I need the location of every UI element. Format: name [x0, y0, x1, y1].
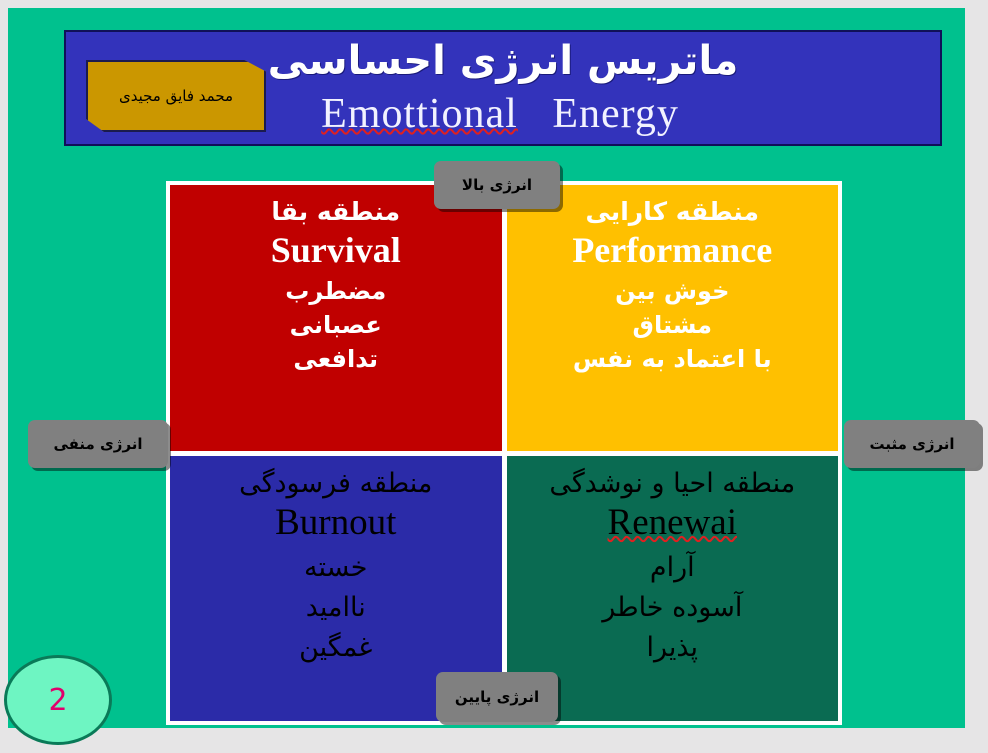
quadrant-renewal-item-3: پذیرا [646, 628, 698, 668]
author-badge: محمد فايق مجيدى [86, 60, 266, 132]
axis-label-high-energy: انرژی بالا [434, 161, 560, 209]
quadrant-survival-item-3: تدافعی [293, 342, 378, 376]
quadrant-burnout-item-3: غمگین [299, 628, 372, 668]
quadrant-burnout-item-2: ناامید [306, 588, 366, 628]
title-english-word-emottional: Emottional [321, 91, 518, 137]
quadrant-renewal-heading: منطقه احیا و نوشدگی [549, 468, 795, 500]
quadrant-renewal-item-1: آرام [650, 548, 695, 588]
page-number-bubble: 2 [4, 655, 112, 745]
quadrant-renewal-item-2: آسوده خاطر [602, 588, 742, 628]
quadrant-performance: منطقه کارایی Performance خوش بین مشتاق ب… [507, 185, 839, 451]
axis-label-low-energy-text: انرژی پایین [455, 688, 539, 706]
axis-label-low-energy: انرژی پایین [436, 672, 558, 722]
axis-label-negative-energy-text: انرژی منفی [53, 435, 142, 453]
quadrant-survival-item-1: مضطرب [285, 274, 386, 308]
quadrant-performance-heading: منطقه کارایی [586, 197, 759, 227]
quadrant-performance-item-3: با اعتماد به نفس [573, 342, 772, 376]
quadrant-survival-item-2: عصبانی [290, 308, 382, 342]
quadrant-survival-heading: منطقه بقا [271, 197, 400, 227]
axis-label-positive-energy: انرژی مثبت [844, 420, 980, 468]
slide-canvas: ماتریس انرژی احساسی Emottional Energy مح… [8, 8, 965, 728]
title-english-word-energy: Energy [552, 91, 685, 137]
author-badge-label: محمد فايق مجيدى [119, 87, 233, 105]
quadrant-burnout-heading: منطقه فرسودگی [239, 468, 432, 500]
emotional-energy-matrix: منطقه کارایی Performance خوش بین مشتاق ب… [166, 181, 842, 725]
quadrant-burnout-english: Burnout [275, 501, 396, 545]
quadrant-performance-item-2: مشتاق [632, 308, 712, 342]
quadrant-renewal-english: Renewai [608, 501, 737, 545]
page-number-text: 2 [48, 683, 67, 718]
axis-label-positive-energy-text: انرژی مثبت [869, 435, 954, 453]
quadrant-burnout-item-1: خسته [304, 548, 367, 588]
quadrant-survival: منطقه بقا Survival مضطرب عصبانی تدافعی [170, 185, 502, 451]
quadrant-survival-english: Survival [271, 229, 401, 272]
quadrant-performance-item-1: خوش بین [615, 274, 729, 308]
axis-label-high-energy-text: انرژی بالا [462, 176, 532, 194]
quadrant-performance-english: Performance [572, 229, 772, 272]
slide-stage: ماتریس انرژی احساسی Emottional Energy مح… [0, 0, 988, 753]
axis-label-negative-energy: انرژی منفی [28, 420, 168, 468]
